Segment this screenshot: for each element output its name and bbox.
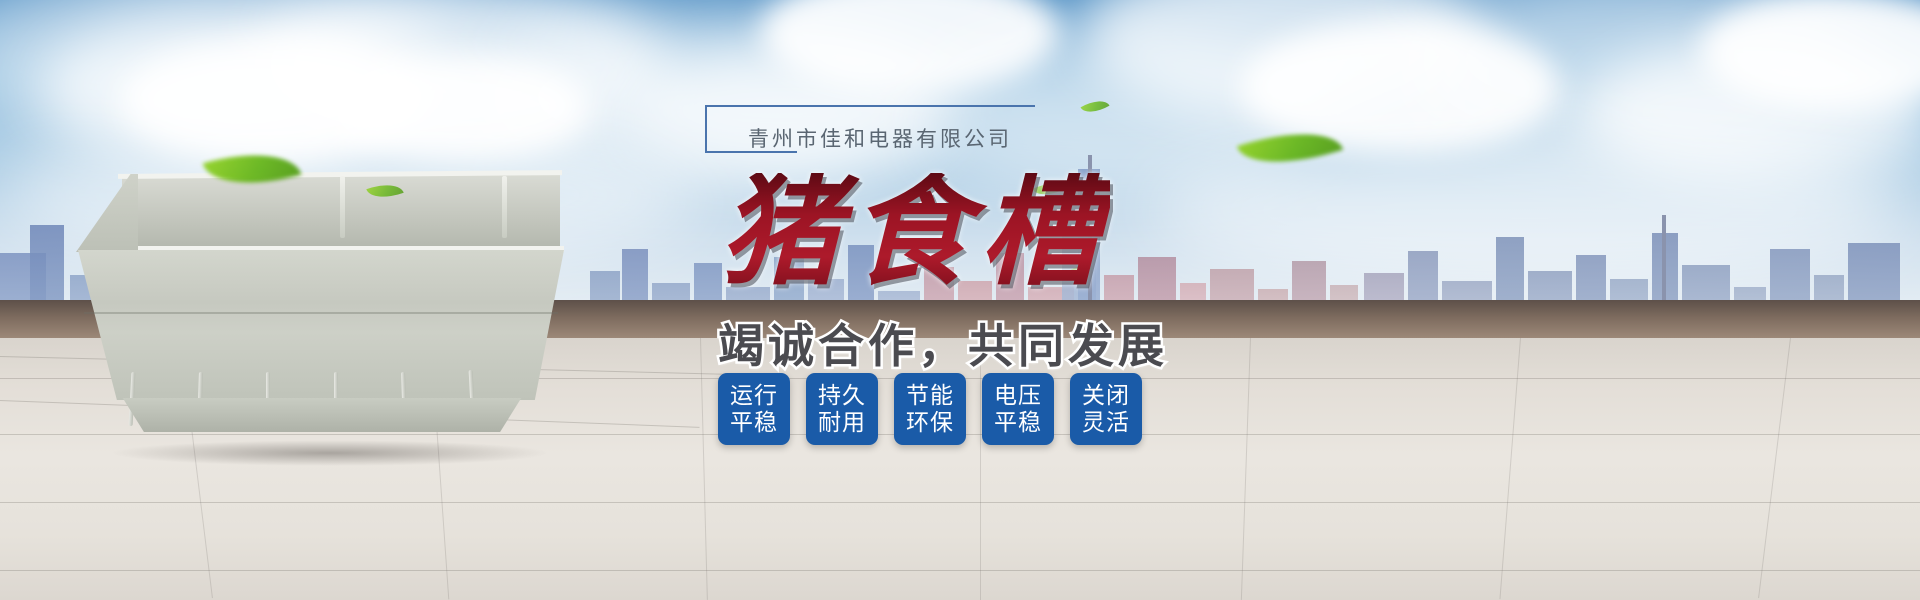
frame-left-line (705, 105, 707, 153)
feature-badge[interactable]: 持久 耐用 (806, 373, 878, 445)
badge-line-2: 环保 (906, 409, 954, 436)
trough-divider (340, 176, 345, 238)
feature-badge[interactable]: 电压 平稳 (982, 373, 1054, 445)
feature-badge-list: 运行 平稳 持久 耐用 节能 环保 电压 平稳 关闭 灵活 (718, 373, 1142, 445)
feature-badge[interactable]: 关闭 灵活 (1070, 373, 1142, 445)
product-image-feed-trough (70, 160, 590, 460)
trough-bottom-lip (110, 398, 534, 432)
subtitle-slogan: 竭诚合作，共同发展 (718, 310, 1168, 376)
trough-left-panel (76, 174, 138, 252)
badge-line-1: 运行 (730, 382, 778, 409)
trough-divider (502, 176, 507, 238)
company-name: 青州市佳和电器有限公司 (748, 123, 1012, 153)
main-title: 猪食槽 (720, 173, 1110, 293)
badge-line-1: 关闭 (1082, 382, 1130, 409)
badge-line-1: 持久 (818, 382, 866, 409)
banner-text-block: 青州市佳和电器有限公司 猪食槽 竭诚合作，共同发展 运行 平稳 持久 耐用 节能… (700, 95, 1400, 555)
badge-line-1: 节能 (906, 382, 954, 409)
frame-top-line (705, 105, 1035, 107)
feature-badge[interactable]: 节能 环保 (894, 373, 966, 445)
badge-line-1: 电压 (994, 382, 1042, 409)
badge-line-2: 灵活 (1082, 409, 1130, 436)
badge-line-2: 耐用 (818, 409, 866, 436)
feature-badge[interactable]: 运行 平稳 (718, 373, 790, 445)
badge-line-2: 平稳 (730, 409, 778, 436)
trough-weld-seam (84, 312, 558, 314)
badge-line-2: 平稳 (994, 409, 1042, 436)
trough-front-body (78, 250, 564, 400)
product-shadow (110, 440, 550, 466)
promotional-banner: 青州市佳和电器有限公司 猪食槽 竭诚合作，共同发展 运行 平稳 持久 耐用 节能… (0, 0, 1920, 600)
